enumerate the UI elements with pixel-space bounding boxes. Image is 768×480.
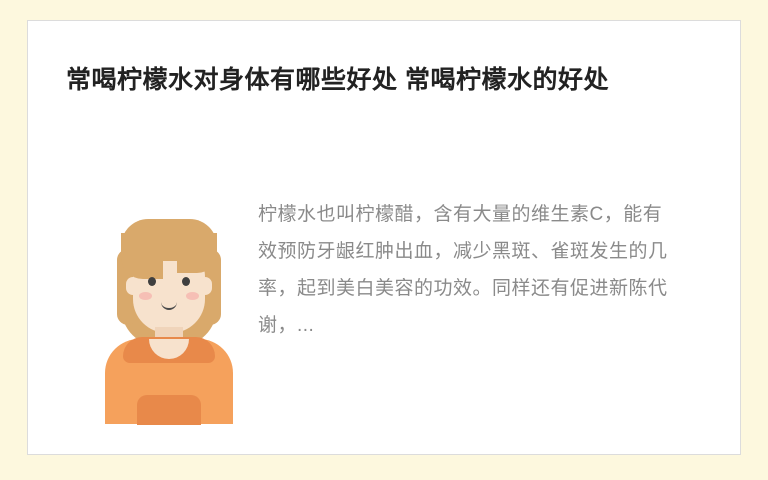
- avatar-ear-left-icon: [126, 277, 140, 295]
- article-card: 常喝柠檬水对身体有哪些好处 常喝柠檬水的好处 柠檬水也叫柠檬醋，含有大量的维生素…: [27, 20, 741, 455]
- avatar-blush-left-icon: [139, 292, 152, 300]
- avatar-fringe-right-icon: [177, 233, 217, 273]
- page-title: 常喝柠檬水对身体有哪些好处 常喝柠檬水的好处: [66, 61, 686, 100]
- avatar: [93, 219, 245, 424]
- avatar-eye-right-icon: [182, 277, 190, 286]
- article-summary: 柠檬水也叫柠檬醋，含有大量的维生素C，能有效预防牙龈红肿出血，减少黑斑、雀斑发生…: [258, 196, 676, 344]
- avatar-ear-right-icon: [198, 277, 212, 295]
- avatar-blush-right-icon: [186, 292, 199, 300]
- avatar-pocket-icon: [137, 395, 201, 425]
- page-root: 常喝柠檬水对身体有哪些好处 常喝柠檬水的好处 柠檬水也叫柠檬醋，含有大量的维生素…: [0, 0, 768, 480]
- avatar-fringe-left-icon: [121, 233, 163, 279]
- avatar-eye-left-icon: [148, 277, 156, 286]
